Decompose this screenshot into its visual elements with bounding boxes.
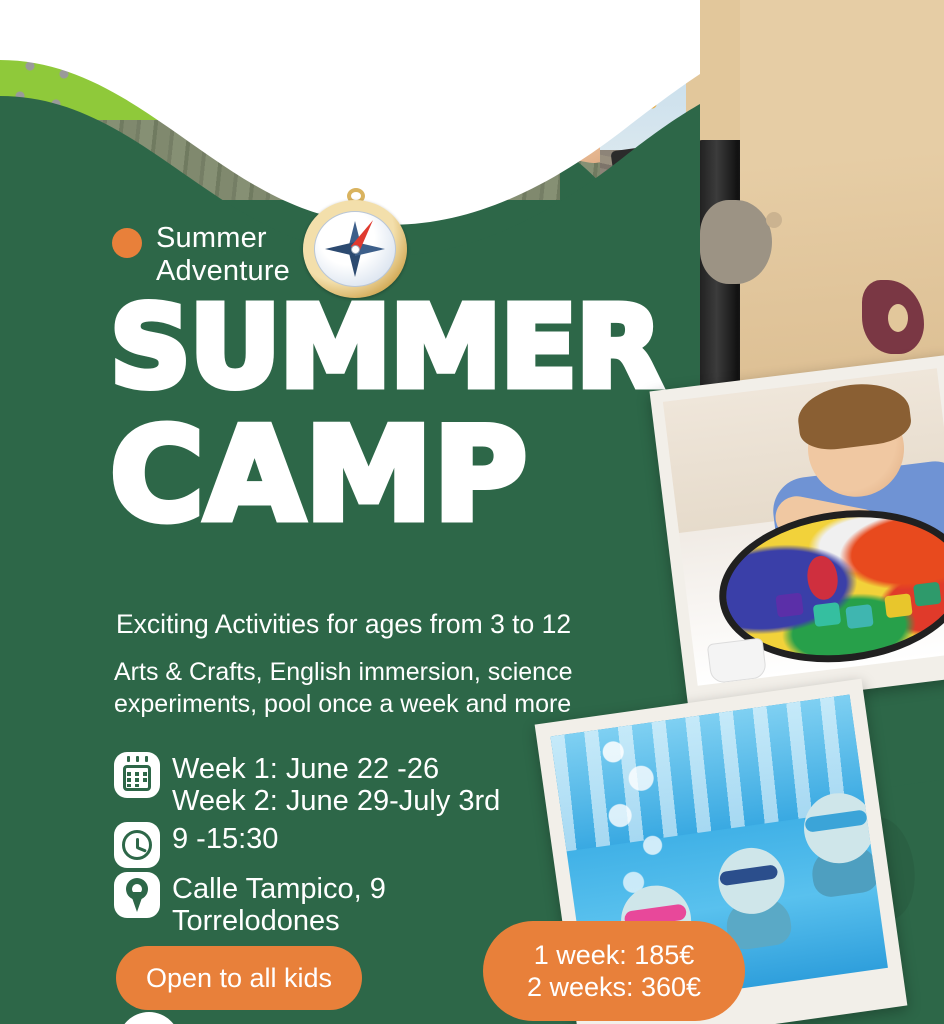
compass-icon	[303, 188, 407, 298]
info-text-address: Calle Tampico, 9 Torrelodones	[172, 872, 386, 938]
climbing-hold-grey	[700, 200, 772, 284]
compass-rose	[323, 220, 387, 278]
info-row-address: Calle Tampico, 9 Torrelodones	[114, 872, 500, 938]
ages-subtitle: Exciting Activities for ages from 3 to 1…	[116, 608, 676, 641]
headline-line-1: SUMMER	[110, 296, 670, 400]
open-to-all-kids-badge[interactable]: Open to all kids	[116, 946, 362, 1010]
compass-face	[314, 211, 396, 287]
brand-dot-icon	[112, 228, 142, 258]
info-text-dates: Week 1: June 22 -26 Week 2: June 29-July…	[172, 752, 500, 818]
climbing-bolt	[766, 212, 782, 228]
science-photo	[649, 355, 944, 711]
headline-line-2: CAMP	[110, 416, 670, 535]
plastic-cup	[707, 638, 767, 685]
clock-icon	[114, 822, 160, 868]
summer-camp-poster: Summer Adventure SUMMER CAMP Exciting Ac…	[0, 0, 944, 1024]
dye-cube-purple	[775, 593, 803, 618]
dye-cube-cyan	[845, 604, 873, 629]
page-title: SUMMER CAMP	[110, 296, 670, 535]
calendar-icon	[114, 752, 160, 798]
brand-lockup: Summer Adventure	[112, 222, 290, 289]
science-photo-image	[663, 368, 944, 686]
info-row-hours: 9 -15:30	[114, 822, 500, 868]
brand-name: Summer Adventure	[156, 222, 290, 289]
pricing-badge[interactable]: 1 week: 185€ 2 weeks: 360€	[483, 921, 745, 1021]
info-row-dates: Week 1: June 22 -26 Week 2: June 29-July…	[114, 752, 500, 818]
swimmer-child-3	[788, 786, 888, 903]
info-text-hours: 9 -15:30	[172, 822, 278, 855]
dye-cube-green	[913, 582, 941, 607]
dye-cube-yellow	[884, 593, 912, 618]
activities-subtitle: Arts & Crafts, English immersion, scienc…	[114, 656, 654, 720]
info-list: Week 1: June 22 -26 Week 2: June 29-July…	[114, 752, 500, 938]
dye-cube-teal	[813, 602, 841, 627]
location-pin-icon	[114, 872, 160, 918]
compass-center-pin	[351, 245, 360, 254]
